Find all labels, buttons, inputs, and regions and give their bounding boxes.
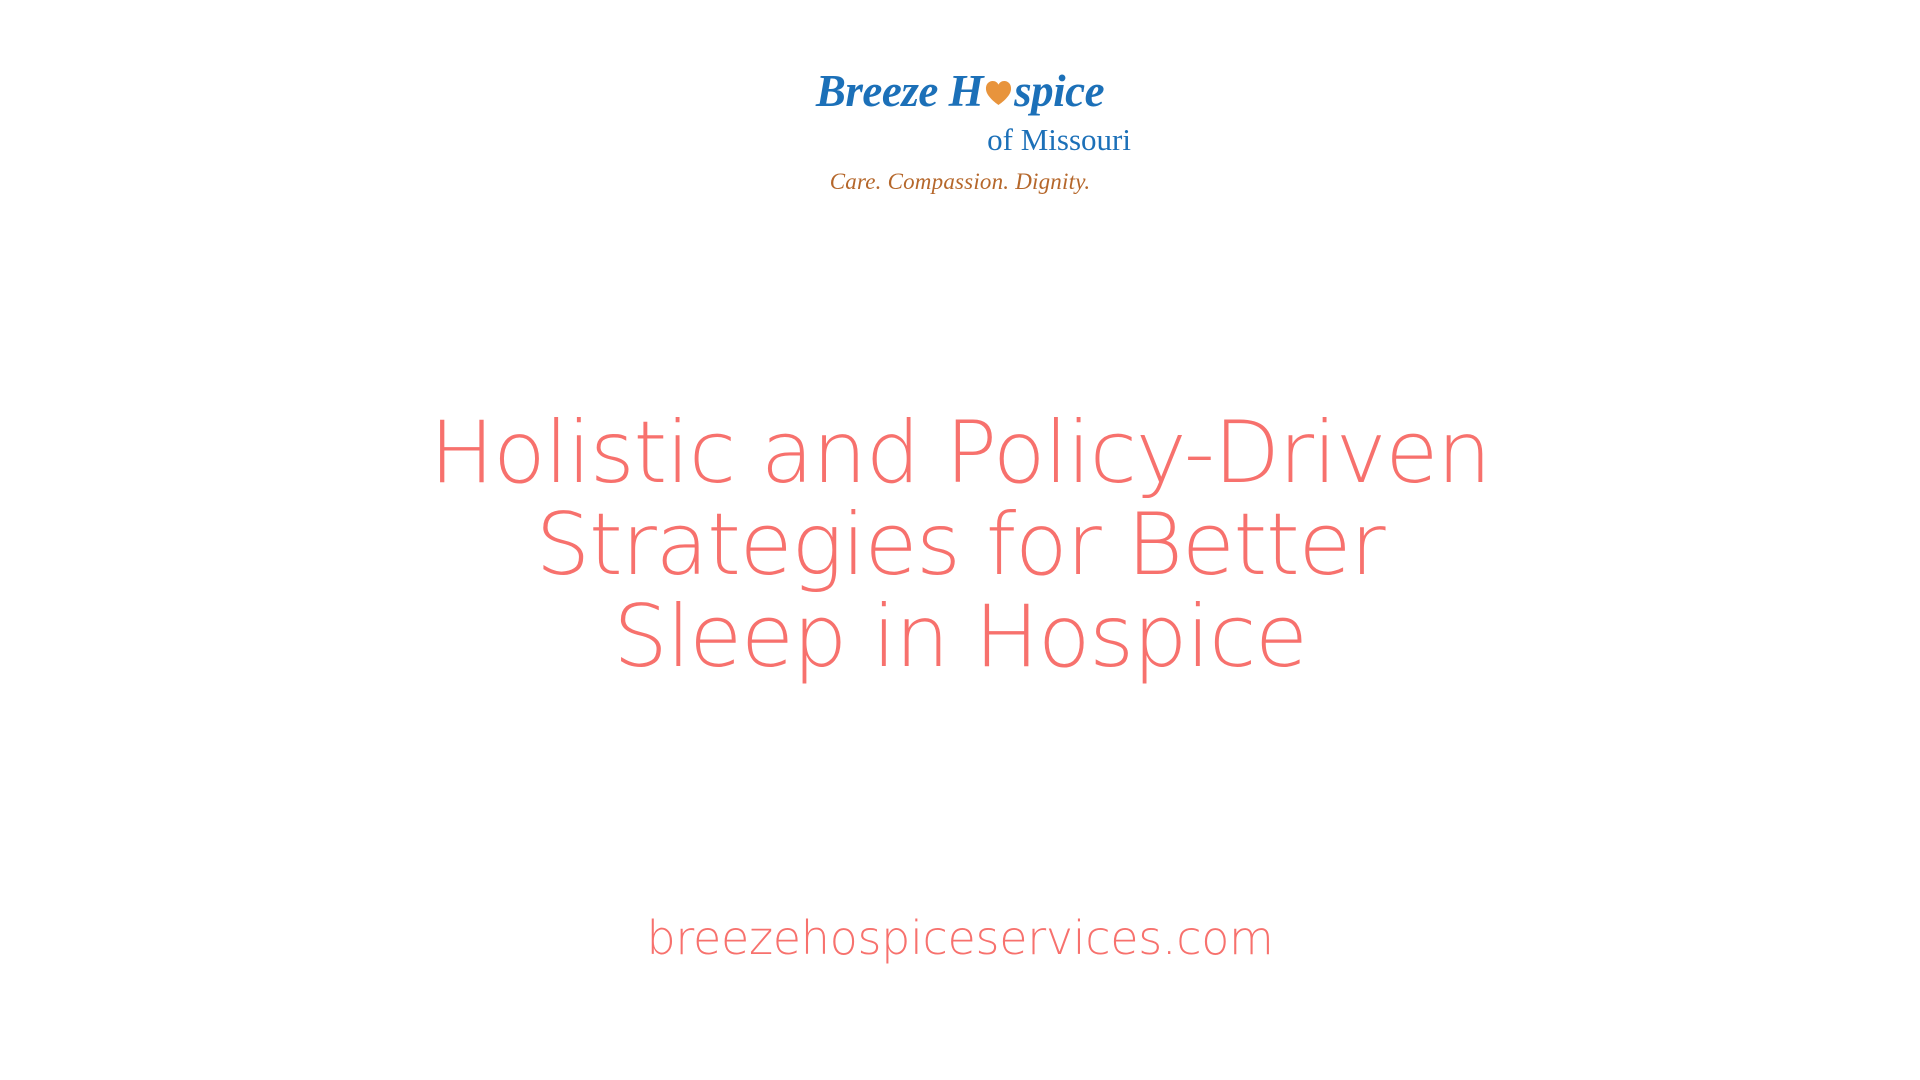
page-title-line-1: Holistic and Policy-Driven [0,410,1920,496]
footer: breezehospiceservices.com [0,915,1920,961]
brand-tagline: Care. Compassion. Dignity. [830,170,1091,193]
title-slide: Breeze H spice of Missouri Care. Compass… [0,0,1920,1080]
page-title-line-2: Strategies for Better [0,502,1920,588]
heart-icon [985,80,1012,106]
page-title-line-3: Sleep in Hospice [0,594,1920,680]
brand-subtitle: of Missouri [987,124,1135,157]
page-title: Holistic and Policy-Driven Strategies fo… [0,410,1920,680]
brand-wordmark-part1: Breeze H [816,69,983,114]
brand-wordmark-part2: spice [1014,69,1104,114]
brand-logo: Breeze H spice of Missouri Care. Compass… [0,62,1920,193]
website-url-link[interactable]: breezehospiceservices.com [646,911,1273,965]
brand-wordmark: Breeze H spice [816,62,1104,120]
brand-logo-inner: Breeze H spice of Missouri Care. Compass… [785,62,1135,193]
